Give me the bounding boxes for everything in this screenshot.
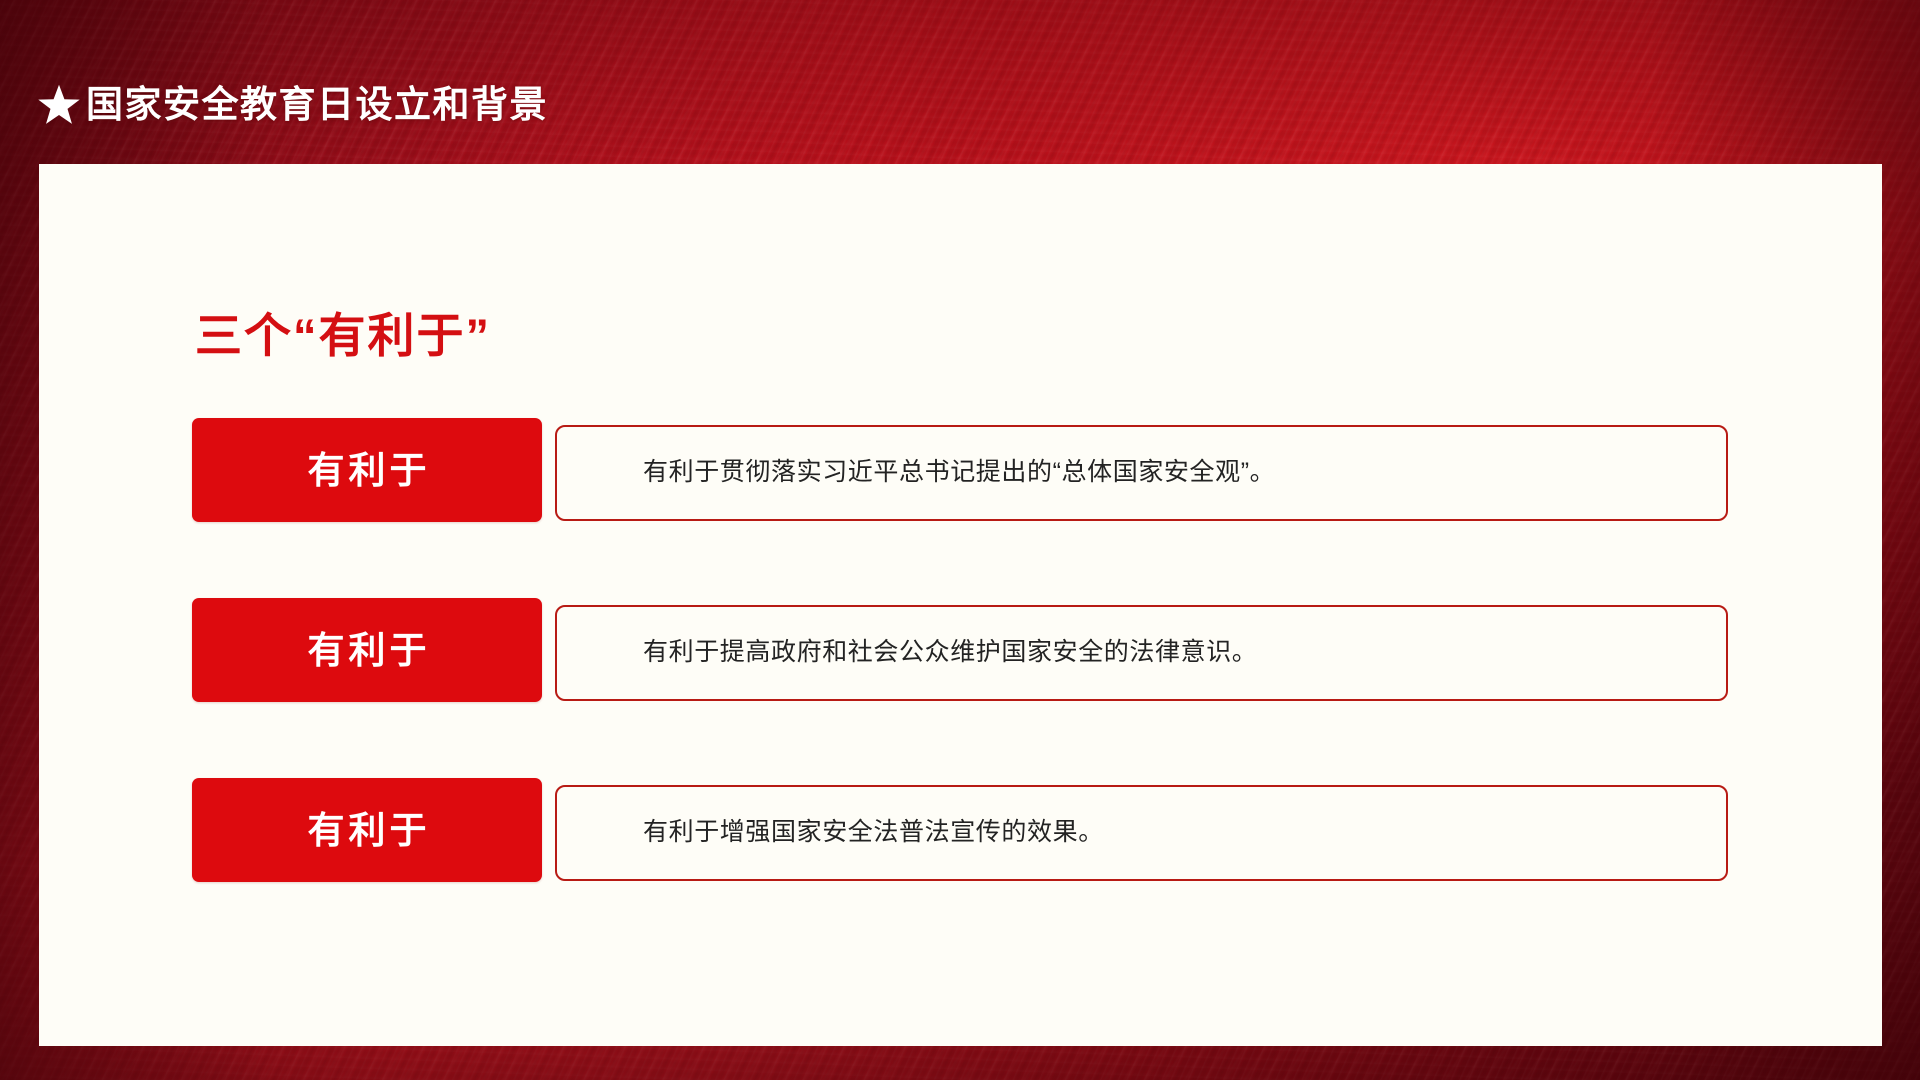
benefit-textbox-2[interactable]: 有利于提高政府和社会公众维护国家安全的法律意识。 bbox=[555, 605, 1728, 701]
benefit-textbox-3[interactable]: 有利于增强国家安全法普法宣传的效果。 bbox=[555, 785, 1728, 881]
benefit-badge-2[interactable]: 有利于 bbox=[192, 598, 542, 702]
section-title: 三个“有利于” bbox=[195, 312, 491, 359]
page-title: 国家安全教育日设立和背景 bbox=[86, 86, 548, 123]
slide-header: 国家安全教育日设立和背景 bbox=[36, 80, 548, 128]
slide: 国家安全教育日设立和背景 三个“有利于” 有利于 有利于贯彻落实习近平总书记提出… bbox=[0, 0, 1920, 1080]
benefits-list: 有利于 有利于贯彻落实习近平总书记提出的“总体国家安全观”。 有利于 有利于提高… bbox=[192, 418, 1728, 882]
benefit-text: 有利于增强国家安全法普法宣传的效果。 bbox=[557, 816, 1134, 850]
benefit-badge-label: 有利于 bbox=[304, 632, 431, 669]
benefit-badge-3[interactable]: 有利于 bbox=[192, 778, 542, 882]
benefit-text: 有利于提高政府和社会公众维护国家安全的法律意识。 bbox=[557, 636, 1287, 670]
list-item: 有利于 有利于增强国家安全法普法宣传的效果。 bbox=[192, 778, 1728, 882]
star-icon bbox=[36, 82, 82, 128]
benefit-textbox-1[interactable]: 有利于贯彻落实习近平总书记提出的“总体国家安全观”。 bbox=[555, 425, 1728, 521]
list-item: 有利于 有利于贯彻落实习近平总书记提出的“总体国家安全观”。 bbox=[192, 418, 1728, 522]
benefit-text: 有利于贯彻落实习近平总书记提出的“总体国家安全观”。 bbox=[557, 456, 1305, 490]
benefit-badge-label: 有利于 bbox=[304, 812, 431, 849]
list-item: 有利于 有利于提高政府和社会公众维护国家安全的法律意识。 bbox=[192, 598, 1728, 702]
benefit-badge-label: 有利于 bbox=[304, 452, 431, 489]
benefit-badge-1[interactable]: 有利于 bbox=[192, 418, 542, 522]
